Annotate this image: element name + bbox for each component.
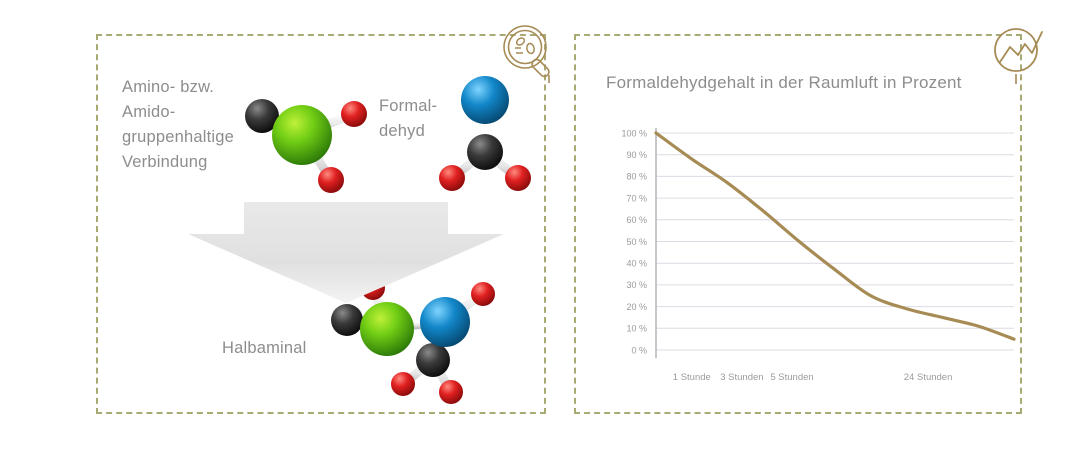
y-axis-tick: 80 % [626, 172, 647, 182]
molecule-amine-icon [236, 82, 384, 200]
series-line-formaldehydgehalt [656, 133, 1014, 339]
transformation-arrow-icon [186, 200, 506, 305]
y-axis-tick: 70 % [626, 193, 647, 203]
y-axis-tick: 90 % [626, 150, 647, 160]
trend-chart-icon[interactable] [988, 22, 1052, 86]
y-axis-tick: 0 % [631, 345, 647, 355]
chart-title: Formaldehydgehalt in der Raumluft in Pro… [606, 73, 962, 93]
y-axis-tick: 10 % [626, 324, 647, 334]
magnifier-molecule-icon[interactable] [500, 22, 564, 86]
y-axis-tick: 60 % [626, 215, 647, 225]
x-axis-tick: 24 Stunden [904, 372, 953, 383]
chart-plot: 100 %90 %80 %70 %60 %50 %40 %30 %20 %10 … [574, 110, 1022, 395]
y-axis-tick: 20 % [626, 302, 647, 312]
x-axis-tick: 1 Stunde [673, 372, 711, 383]
molecule-formaldehyde-icon [430, 68, 540, 196]
y-axis-tick: 100 % [621, 128, 647, 138]
y-axis-tick: 30 % [626, 280, 647, 290]
y-axis-tick: 40 % [626, 259, 647, 269]
x-axis-tick: 3 Stunden [720, 372, 763, 383]
y-axis-tick: 50 % [626, 237, 647, 247]
x-axis-tick: 5 Stunden [770, 372, 813, 383]
